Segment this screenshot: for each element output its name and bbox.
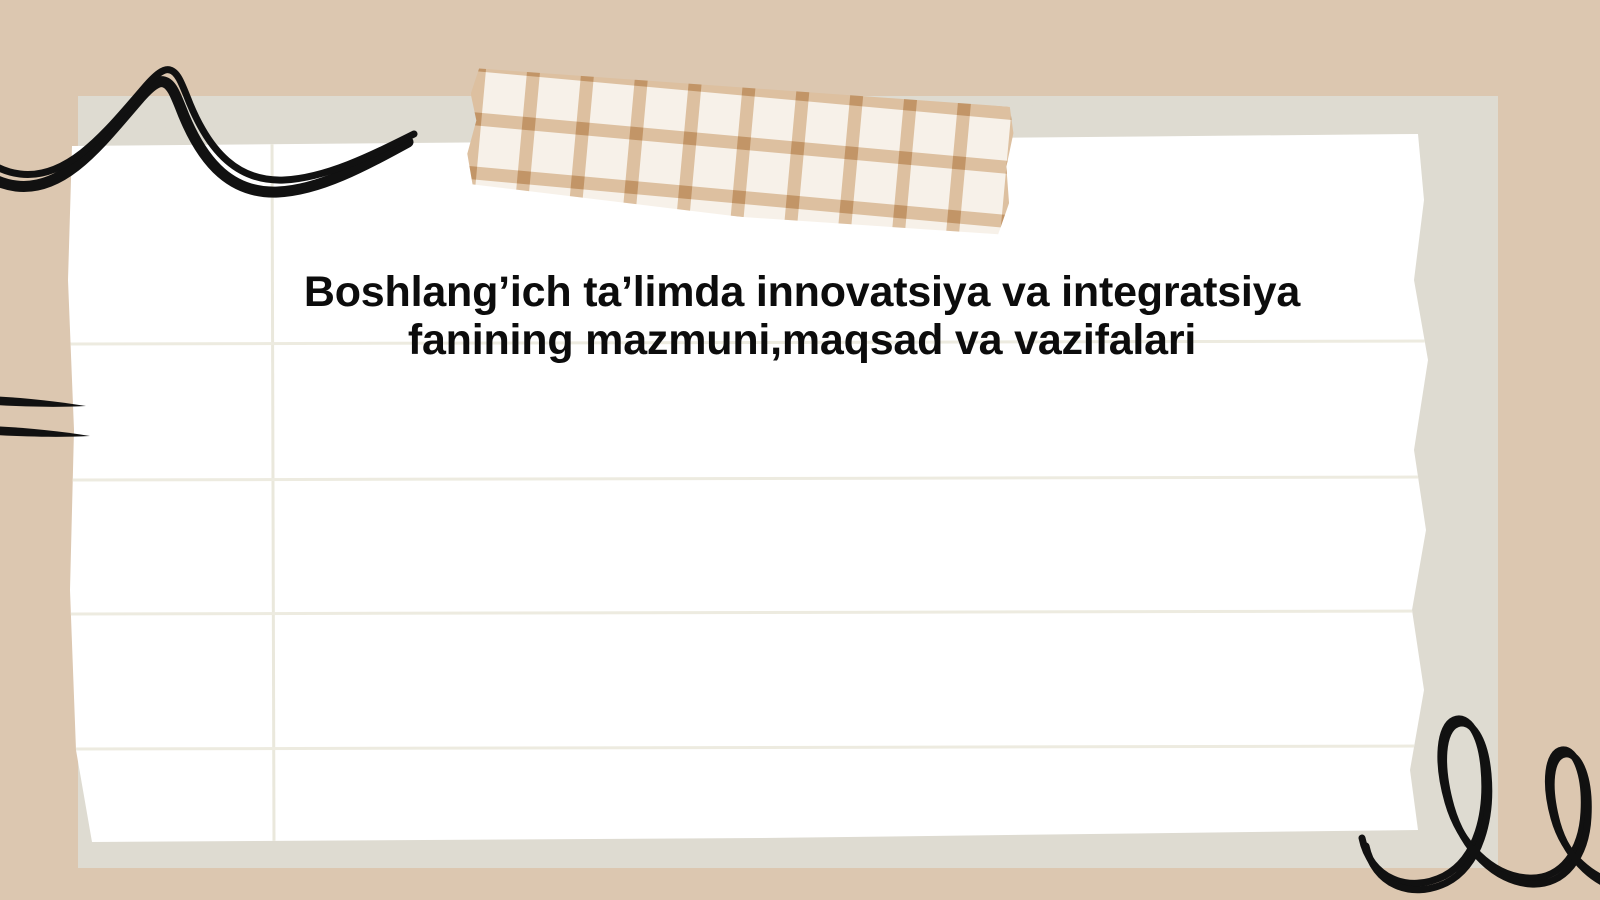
ruled-paper-sheet	[62, 130, 1442, 848]
title-line-1: Boshlang’ich ta’limda innovatsiya va int…	[272, 268, 1332, 316]
title-line-2: fanining mazmuni,maqsad va vazifalari	[272, 316, 1332, 364]
slide-title: Boshlang’ich ta’limda innovatsiya va int…	[272, 268, 1332, 364]
slide-canvas: Boshlang’ich ta’limda innovatsiya va int…	[0, 0, 1600, 900]
